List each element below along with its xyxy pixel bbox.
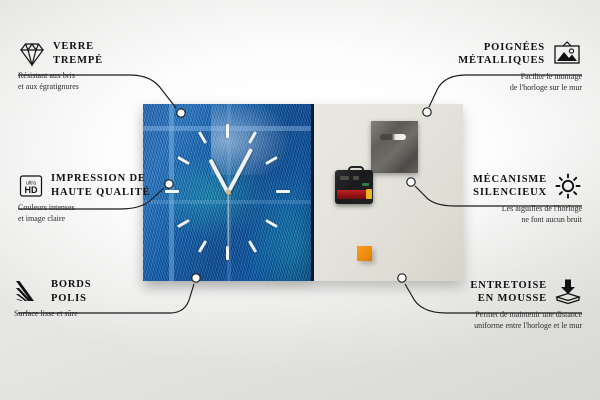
callout-header: BORDS POLIS (14, 278, 214, 305)
callout-title: ENTRETOISE EN MOUSSE (470, 279, 547, 306)
infographic-stage: VERRE TREMPÉ Résistant aux bris et aux é… (0, 0, 600, 400)
callout-title-line2: EN MOUSSE (470, 292, 547, 306)
callout-title-line1: ENTRETOISE (470, 279, 547, 293)
callout-description: Permet de maintenir une distance uniform… (372, 310, 582, 331)
callout-header: POIGNÉES MÉTALLIQUES (382, 40, 582, 68)
callout-title-line2: HAUTE QUALITÉ (51, 186, 150, 200)
callout-desc-line2: et aux égratignures (18, 82, 218, 93)
callout-description: Résistant aux bris et aux égratignures (18, 71, 218, 92)
ultra-hd-bottom-label: HD (25, 185, 38, 195)
callout-description: Facilite le montage de l'horloge sur le … (382, 72, 582, 93)
callout-header: ENTRETOISE EN MOUSSE (372, 278, 582, 306)
callout-title-line2: TREMPÉ (53, 54, 103, 68)
callout-poignees-metalliques: POIGNÉES MÉTALLIQUES Facilite le montage… (382, 40, 582, 93)
diamond-icon (18, 41, 46, 67)
callout-title: VERRE TREMPÉ (53, 40, 103, 67)
callout-desc-line1: Les aiguilles de l'horloge (372, 204, 582, 215)
callout-title-line2: MÉTALLIQUES (458, 54, 545, 68)
callout-entretoise-en-mousse: ENTRETOISE EN MOUSSE Permet de maintenir… (372, 278, 582, 331)
callout-impression-haute-qualite: ultra HD IMPRESSION DE HAUTE QUALITÉ Cou… (18, 172, 233, 224)
polished-edges-icon (14, 279, 44, 305)
callout-title-line1: IMPRESSION DE (51, 172, 150, 186)
callout-title-line2: POLIS (51, 292, 91, 306)
connector-dot-verre-trempe (177, 109, 185, 117)
connector-dot-poignees (423, 108, 431, 116)
callout-desc-line1: Résistant aux bris (18, 71, 218, 82)
callout-title: POIGNÉES MÉTALLIQUES (458, 41, 545, 68)
callout-title-line1: BORDS (51, 278, 91, 292)
callout-desc-line2: ne font aucun bruit (372, 215, 582, 226)
callout-desc-line2: et image claire (18, 214, 233, 225)
callout-header: VERRE TREMPÉ (18, 40, 218, 67)
callout-header: ultra HD IMPRESSION DE HAUTE QUALITÉ (18, 172, 233, 199)
ultra-hd-icon: ultra HD (18, 173, 44, 199)
callout-desc-line1: Couleurs intenses (18, 203, 233, 214)
callout-title: IMPRESSION DE HAUTE QUALITÉ (51, 172, 150, 199)
callout-bords-polis: BORDS POLIS Surface lisse et sûre (14, 278, 214, 320)
callout-desc-line2: uniforme entre l'horloge et le mur (372, 321, 582, 332)
callout-title-line1: VERRE (53, 40, 103, 54)
callout-desc-line1: Surface lisse et sûre (14, 309, 214, 320)
callout-description: Les aiguilles de l'horloge ne font aucun… (372, 204, 582, 225)
callout-title-line1: POIGNÉES (458, 41, 545, 55)
callout-title-line1: MÉCANISME (473, 173, 547, 187)
callout-title-line2: SILENCIEUX (473, 186, 547, 200)
callout-description: Surface lisse et sûre (14, 309, 214, 320)
callout-header: MÉCANISME SILENCIEUX (372, 172, 582, 200)
callout-desc-line1: Facilite le montage (382, 72, 582, 83)
callout-mecanisme-silencieux: MÉCANISME SILENCIEUX Les aiguilles de l'… (372, 172, 582, 225)
callout-title: BORDS POLIS (51, 278, 91, 305)
gear-icon (554, 172, 582, 200)
callout-description: Couleurs intenses et image claire (18, 203, 233, 224)
foam-spacer-icon (554, 278, 582, 306)
callout-verre-trempe: VERRE TREMPÉ Résistant aux bris et aux é… (18, 40, 218, 92)
callout-desc-line2: de l'horloge sur le mur (382, 83, 582, 94)
callout-title: MÉCANISME SILENCIEUX (473, 173, 547, 200)
picture-hanger-icon (552, 40, 582, 68)
callout-desc-line1: Permet de maintenir une distance (372, 310, 582, 321)
